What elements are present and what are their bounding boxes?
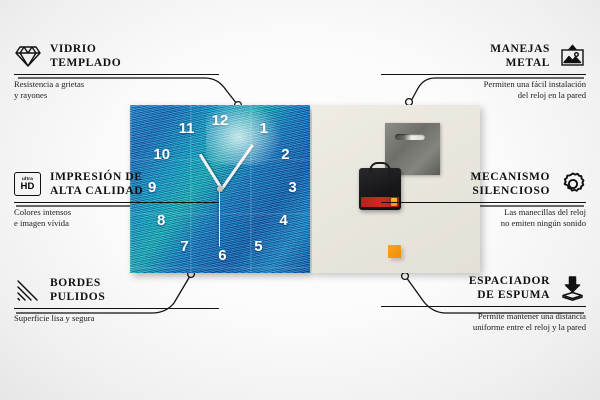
- infographic-canvas: 12 1 2 3 4 5 6 7 8 9 10 11 VIDRIO TEMPLA…: [0, 0, 600, 400]
- clock-numeral-4: 4: [279, 213, 287, 228]
- feature-mecanismo-silencioso: MECANISMO SILENCIOSO Las manecillas del …: [381, 170, 586, 230]
- feature-vidrio-templado: VIDRIO TEMPLADO Resistencia a grietas y …: [14, 42, 219, 102]
- polished-edges-icon: [14, 277, 41, 304]
- feature-header: BORDES PULIDOS: [14, 276, 219, 305]
- clock-numeral-10: 10: [153, 147, 170, 162]
- feature-title: IMPRESIÓN DE ALTA CALIDAD: [50, 170, 143, 199]
- feature-description: Las manecillas del reloj no emiten ningú…: [381, 207, 586, 230]
- feature-divider: [14, 308, 219, 309]
- feature-divider: [381, 306, 586, 307]
- feature-title: MECANISMO SILENCIOSO: [470, 170, 550, 199]
- hd-label: HD: [20, 182, 34, 192]
- feature-espaciador-espuma: ESPACIADOR DE ESPUMA Permite mantener un…: [381, 274, 586, 334]
- feature-title: ESPACIADOR DE ESPUMA: [469, 274, 550, 303]
- feature-manejas-metal: MANEJAS METAL Permiten una fácil instala…: [381, 42, 586, 102]
- foam-spacer-icon: [559, 275, 586, 302]
- clock-numeral-1: 1: [260, 121, 268, 136]
- feature-header: ultra HD IMPRESIÓN DE ALTA CALIDAD: [14, 170, 219, 199]
- feature-bordes-pulidos: BORDES PULIDOS Superficie lisa y segura: [14, 276, 219, 324]
- foam-spacer-pad: [388, 245, 401, 258]
- clock-numeral-2: 2: [281, 147, 289, 162]
- clock-numeral-11: 11: [179, 121, 195, 136]
- clock-numeral-6: 6: [218, 248, 226, 263]
- feature-description: Superficie lisa y segura: [14, 313, 219, 324]
- feature-header: MECANISMO SILENCIOSO: [381, 170, 586, 199]
- feature-description: Resistencia a grietas y rayones: [14, 79, 219, 102]
- picture-hanger-icon: [559, 43, 586, 70]
- feature-divider: [14, 74, 219, 75]
- ultra-hd-icon: ultra HD: [14, 171, 41, 198]
- feature-title: MANEJAS METAL: [490, 42, 550, 71]
- feature-divider: [381, 74, 586, 75]
- clock-numeral-7: 7: [180, 239, 188, 254]
- feature-title: BORDES PULIDOS: [50, 276, 105, 305]
- feature-divider: [381, 202, 586, 203]
- feature-description: Permiten una fácil instalación del reloj…: [381, 79, 586, 102]
- gear-icon: [559, 171, 586, 198]
- diamond-icon: [14, 43, 41, 70]
- feature-title: VIDRIO TEMPLADO: [50, 42, 121, 71]
- feature-description: Permite mantener una distancia uniforme …: [381, 311, 586, 334]
- clock-numeral-5: 5: [254, 239, 262, 254]
- feature-impresion-alta-calidad: ultra HD IMPRESIÓN DE ALTA CALIDAD Color…: [14, 170, 219, 230]
- feature-header: ESPACIADOR DE ESPUMA: [381, 274, 586, 303]
- feature-description: Colores intensos e imagen vívida: [14, 207, 219, 230]
- clock-numeral-12: 12: [212, 113, 229, 128]
- feature-divider: [14, 202, 219, 203]
- feature-header: MANEJAS METAL: [381, 42, 586, 71]
- clock-numeral-3: 3: [288, 180, 296, 195]
- feature-header: VIDRIO TEMPLADO: [14, 42, 219, 71]
